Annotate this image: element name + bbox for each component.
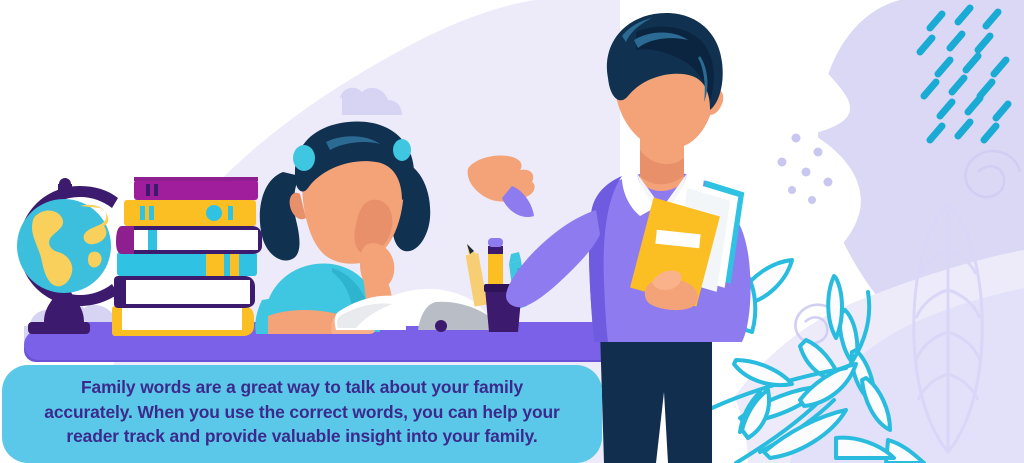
pencil-mid-ferrule — [488, 246, 503, 254]
book-1-magenta — [134, 180, 258, 200]
book-6-pages — [118, 306, 242, 330]
book-6-spine — [112, 306, 122, 336]
book-1-stripe-a — [146, 184, 150, 196]
book-stack — [112, 177, 262, 336]
book-clip — [435, 320, 447, 332]
globe-pin-top — [59, 178, 71, 190]
girl-hairtie-left — [293, 145, 315, 171]
book-2-stripe-c — [228, 206, 233, 220]
book-5-edge — [114, 276, 126, 308]
book-4-label-a — [206, 252, 224, 276]
book-1-top-edge — [134, 177, 258, 181]
book-3-spine — [116, 226, 134, 254]
pencil-mid-eraser — [488, 238, 503, 247]
book-2-stripe-b — [149, 206, 154, 220]
girl-hairtie-right — [393, 139, 411, 161]
book-5-pages — [124, 280, 250, 304]
caption-line-2: accurately. When you use the correct wor… — [44, 400, 559, 425]
caption-line-3: reader track and provide valuable insigh… — [44, 424, 559, 449]
caption-line-1: Family words are a great way to talk abo… — [44, 375, 559, 400]
book-1-stripe-b — [154, 184, 158, 196]
book-4-label-b — [230, 252, 239, 276]
book-3-mark — [148, 230, 157, 250]
illustration-canvas: Family words are a great way to talk abo… — [0, 0, 1024, 463]
book-2-stripe-a — [140, 206, 145, 220]
caption-bubble: Family words are a great way to talk abo… — [2, 365, 602, 463]
book-2-dot — [206, 205, 222, 221]
globe-base — [28, 322, 90, 334]
